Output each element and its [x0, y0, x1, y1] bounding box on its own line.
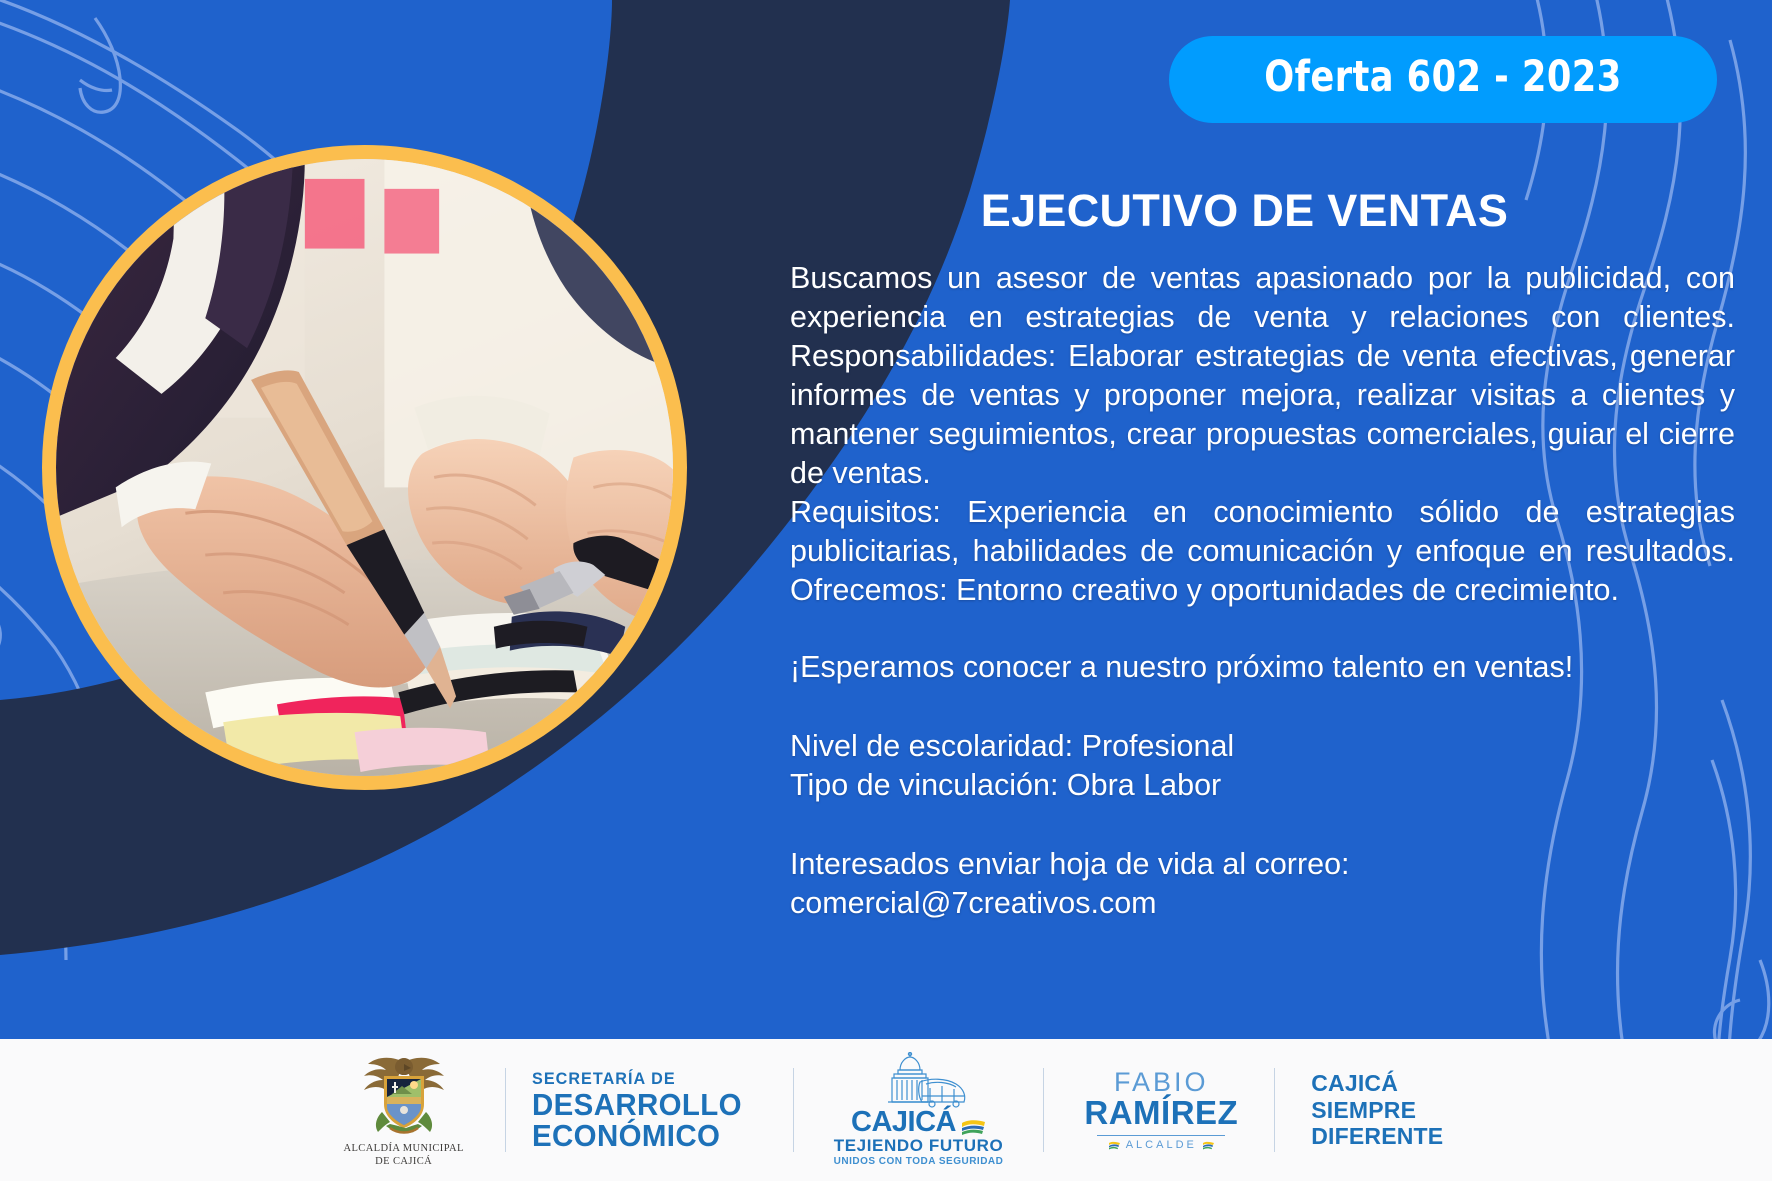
slogan-line1: CAJICÁ	[1311, 1070, 1443, 1097]
slogan-line2: SIEMPRE	[1311, 1097, 1443, 1124]
secretaria-line1: SECRETARÍA DE	[532, 1070, 742, 1087]
slogan-logo: CAJICÁ SIEMPRE DIFERENTE	[1311, 1070, 1443, 1150]
cajica-landmark-icon	[860, 1052, 978, 1110]
education-level: Nivel de escolaridad: Profesional	[790, 727, 1735, 766]
coat-of-arms-logo: ALCALDÍA MUNICIPAL DE CAJICÁ	[329, 1052, 479, 1168]
secretaria-logo: SECRETARÍA DE DESARROLLO ECONÓMICO	[532, 1070, 753, 1151]
cajica-brand-line3: UNIDOS CON TODA SEGURIDAD	[834, 1155, 1004, 1168]
footer-logos: ALCALDÍA MUNICIPAL DE CAJICÁ SECRETARÍA …	[329, 1052, 1444, 1169]
cajica-brand-line2: TEJIENDO FUTURO	[834, 1137, 1004, 1156]
footer-divider	[1274, 1068, 1275, 1152]
business-meeting-photo	[56, 159, 673, 776]
spacer	[790, 687, 1735, 727]
page-title: EJECUTIVO DE VENTAS	[790, 185, 1735, 237]
footer-divider	[793, 1068, 794, 1152]
flag-mark-left-icon	[1108, 1141, 1121, 1150]
job-body: Buscamos un asesor de ventas apasionado …	[790, 259, 1735, 923]
flag-mark-right-icon	[1202, 1141, 1215, 1150]
photo-illustration	[56, 159, 673, 776]
colombia-flag-swoosh-icon	[960, 1119, 986, 1137]
mayor-logo: FABIO RAMÍREZ ALCALDE	[1084, 1069, 1238, 1151]
footer-divider	[505, 1068, 506, 1152]
secretaria-line2: DESARROLLO	[532, 1089, 742, 1120]
cajica-coat-of-arms-icon	[356, 1052, 452, 1138]
mayor-first-name: FABIO	[1114, 1069, 1209, 1096]
job-call-to-action: ¡Esperamos conocer a nuestro próximo tal…	[790, 648, 1735, 687]
coat-of-arms-line2: DE CAJICÁ	[344, 1155, 464, 1168]
mayor-last-name: RAMÍREZ	[1084, 1096, 1238, 1131]
secretaria-line3: ECONÓMICO	[532, 1120, 742, 1151]
mayor-role: ALCALDE	[1126, 1139, 1197, 1151]
job-requirements: Requisitos: Experiencia en conocimiento …	[790, 493, 1735, 610]
spacer	[790, 805, 1735, 845]
footer-divider	[1043, 1068, 1044, 1152]
mayor-underline	[1097, 1135, 1225, 1137]
offer-badge-label: Oferta 602 - 2023	[1264, 56, 1621, 99]
spacer	[790, 610, 1735, 648]
cajica-brand-logo: CAJICÁ TEJIENDO FUTURO UNIDOS CON TODA S…	[834, 1052, 1004, 1169]
offer-badge[interactable]: Oferta 602 - 2023	[1169, 36, 1717, 123]
job-offer-poster: Oferta 602 - 2023 EJECUTIVO DE VENTAS Bu…	[0, 0, 1772, 1181]
job-description: Buscamos un asesor de ventas apasionado …	[790, 259, 1735, 493]
cajica-brand-line1: CAJICÁ	[851, 1108, 956, 1137]
photo-circle-frame	[42, 145, 687, 790]
coat-of-arms-line1: ALCALDÍA MUNICIPAL	[344, 1142, 464, 1155]
job-content: EJECUTIVO DE VENTAS Buscamos un asesor d…	[790, 185, 1735, 923]
contact-instruction: Interesados enviar hoja de vida al corre…	[790, 845, 1735, 884]
contact-email[interactable]: comercial@7creativos.com	[790, 884, 1735, 923]
footer-bar: ALCALDÍA MUNICIPAL DE CAJICÁ SECRETARÍA …	[0, 1039, 1772, 1181]
contract-type: Tipo de vinculación: Obra Labor	[790, 766, 1735, 805]
slogan-line3: DIFERENTE	[1311, 1123, 1443, 1150]
